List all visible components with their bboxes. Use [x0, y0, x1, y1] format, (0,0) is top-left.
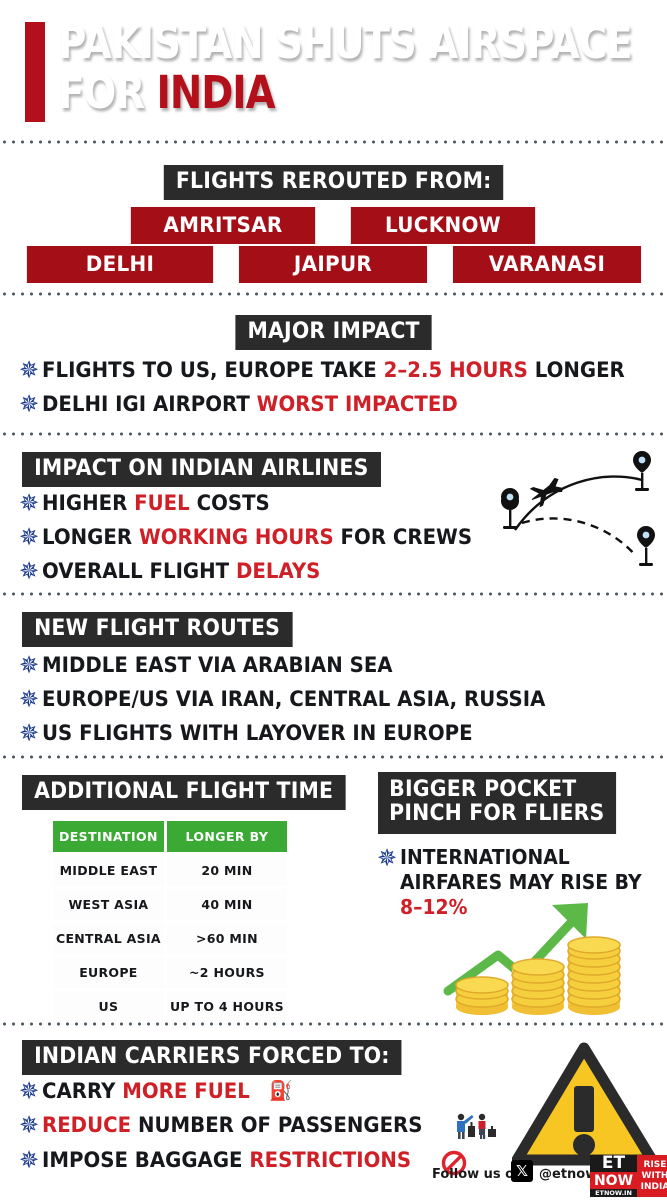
- etnow-logo-url: ETNOW.IN: [590, 1189, 637, 1197]
- table-row: US UP TO 4 HOURS: [53, 991, 287, 1022]
- travellers-icon: [452, 1112, 498, 1140]
- bullet-text: EUROPE/US VIA IRAN, CENTRAL ASIA, RUSSIA: [42, 686, 545, 713]
- cell-destination: US: [53, 991, 164, 1022]
- asterisk-icon: ✵: [374, 845, 400, 871]
- section-major-impact: MAJOR IMPACT: [0, 315, 667, 350]
- list-item: ✵ EUROPE/US VIA IRAN, CENTRAL ASIA, RUSS…: [16, 686, 656, 713]
- column-header-longer-by: LONGER BY: [167, 821, 287, 852]
- asterisk-icon: ✵: [16, 686, 42, 712]
- asterisk-icon: ✵: [16, 1078, 42, 1104]
- title-accent-bar: [25, 22, 45, 122]
- city-chip-lucknow[interactable]: LUCKNOW: [351, 207, 535, 244]
- etnow-logo-tagline: RISE WITH INDIA: [637, 1155, 667, 1197]
- asterisk-icon: ✵: [16, 1147, 42, 1173]
- column-header-destination: DESTINATION: [53, 821, 164, 852]
- flight-time-table-wrap: DESTINATION LONGER BY MIDDLE EAST 20 MIN…: [50, 818, 290, 1025]
- asterisk-icon: ✵: [16, 357, 42, 383]
- asterisk-icon: ✵: [16, 652, 42, 678]
- section-divider: [0, 755, 667, 759]
- coin-stack-large-icon: [568, 937, 620, 1015]
- etnow-logo[interactable]: ET NOW ETNOW.IN RISE WITH INDIA: [590, 1155, 667, 1197]
- bullet-text: DELHI IGI AIRPORT WORST IMPACTED: [42, 391, 458, 418]
- asterisk-icon: ✵: [16, 524, 42, 550]
- list-item: ✵ MIDDLE EAST VIA ARABIAN SEA: [16, 652, 656, 679]
- list-item: ✵ CARRY MORE FUEL ⛽: [16, 1078, 536, 1105]
- section-divider: [0, 432, 667, 436]
- airlines-bullets: ✵ HIGHER FUEL COSTS ✵ LONGER WORKING HOU…: [16, 490, 656, 592]
- table-row: MIDDLE EAST 20 MIN: [53, 855, 287, 886]
- carriers-header-wrap: INDIAN CARRIERS FORCED TO:: [22, 1040, 430, 1075]
- bullet-text: IMPOSE BAGGAGE RESTRICTIONS: [42, 1147, 411, 1174]
- bullet-text: CARRY MORE FUEL: [42, 1078, 250, 1105]
- title-highlight: INDIA: [156, 66, 274, 119]
- routes-header: NEW FLIGHT ROUTES: [22, 612, 292, 647]
- bullet-text: HIGHER FUEL COSTS: [42, 490, 270, 517]
- section-divider: [0, 592, 667, 596]
- asterisk-icon: ✵: [16, 391, 42, 417]
- cell-destination: EUROPE: [53, 957, 164, 988]
- routes-header-wrap: NEW FLIGHT ROUTES: [22, 612, 313, 647]
- coin-stack-small-icon: [456, 977, 508, 1015]
- etnow-logo-now: NOW: [590, 1172, 637, 1189]
- asterisk-icon: ✵: [16, 558, 42, 584]
- bullet-text: US FLIGHTS WITH LAYOVER IN EUROPE: [42, 720, 473, 747]
- cell-destination: MIDDLE EAST: [53, 855, 164, 886]
- carriers-header: INDIAN CARRIERS FORCED TO:: [22, 1040, 402, 1075]
- list-item: ✵ REDUCE NUMBER OF PASSENGERS: [16, 1112, 536, 1140]
- city-chip-jaipur[interactable]: JAIPUR: [239, 246, 427, 283]
- list-item: ✵ US FLIGHTS WITH LAYOVER IN EUROPE: [16, 720, 656, 747]
- etnow-logo-et: ET: [590, 1155, 637, 1172]
- list-item: ✵ OVERALL FLIGHT DELAYS: [16, 558, 656, 585]
- major-impact-bullets: ✵ FLIGHTS TO US, EUROPE TAKE 2–2.5 HOURS…: [16, 357, 656, 425]
- title-block: PAKISTAN SHUTS AIRSPACE FOR INDIA: [25, 18, 645, 118]
- flight-time-header: ADDITIONAL FLIGHT TIME: [22, 775, 345, 810]
- infographic-page: PAKISTAN SHUTS AIRSPACE FOR INDIA FLIGHT…: [0, 0, 667, 1200]
- table-row: CENTRAL ASIA >60 MIN: [53, 923, 287, 954]
- section-divider: [0, 1022, 667, 1026]
- list-item: ✵ FLIGHTS TO US, EUROPE TAKE 2–2.5 HOURS…: [16, 357, 656, 384]
- airlines-header-wrap: IMPACT ON INDIAN AIRLINES: [22, 452, 408, 487]
- bullet-text: OVERALL FLIGHT DELAYS: [42, 558, 320, 585]
- title-line-2: FOR INDIA: [58, 68, 563, 118]
- flight-time-header-wrap: ADDITIONAL FLIGHT TIME: [22, 775, 370, 810]
- asterisk-icon: ✵: [16, 1112, 42, 1138]
- table-row: WEST ASIA 40 MIN: [53, 889, 287, 920]
- cell-destination: WEST ASIA: [53, 889, 164, 920]
- asterisk-icon: ✵: [16, 720, 42, 746]
- list-item: ✵ LONGER WORKING HOURS FOR CREWS: [16, 524, 656, 551]
- flight-time-table: DESTINATION LONGER BY MIDDLE EAST 20 MIN…: [50, 818, 290, 1025]
- city-chip-varanasi[interactable]: VARANASI: [453, 246, 641, 283]
- fuel-pump-icon: ⛽: [269, 1078, 293, 1105]
- routes-bullets: ✵ MIDDLE EAST VIA ARABIAN SEA ✵ EUROPE/U…: [16, 652, 656, 754]
- list-item: ✵ HIGHER FUEL COSTS: [16, 490, 656, 517]
- asterisk-icon: ✵: [16, 490, 42, 516]
- pocket-pinch-header-wrap: BIGGER POCKET PINCH FOR FLIERS: [378, 772, 634, 834]
- cell-longer-by: UP TO 4 HOURS: [167, 991, 287, 1022]
- cell-longer-by: >60 MIN: [167, 923, 287, 954]
- bullet-text: LONGER WORKING HOURS FOR CREWS: [42, 524, 472, 551]
- tagline-line-2: WITH: [642, 1171, 667, 1182]
- bullet-text: FLIGHTS TO US, EUROPE TAKE 2–2.5 HOURS L…: [42, 357, 625, 384]
- cell-longer-by: 20 MIN: [167, 855, 287, 886]
- cell-longer-by: ~2 HOURS: [167, 957, 287, 988]
- pocket-pinch-header: BIGGER POCKET PINCH FOR FLIERS: [378, 772, 616, 834]
- rerouted-header: FLIGHTS REROUTED FROM:: [164, 165, 504, 200]
- x-twitter-icon[interactable]: 𝕏: [511, 1160, 533, 1182]
- bullet-text: REDUCE NUMBER OF PASSENGERS: [42, 1112, 422, 1139]
- tagline-line-1: RISE: [644, 1160, 667, 1171]
- airlines-header: IMPACT ON INDIAN AIRLINES: [22, 452, 381, 487]
- follow-label: Follow us on: [432, 1167, 523, 1182]
- title-line-1: PAKISTAN SHUTS AIRSPACE: [58, 18, 563, 68]
- pocket-pinch-header-line-2: PINCH FOR FLIERS: [389, 802, 604, 826]
- tagline-line-3: INDIA: [641, 1182, 667, 1193]
- city-chip-delhi[interactable]: DELHI: [27, 246, 213, 283]
- major-impact-header: MAJOR IMPACT: [235, 315, 431, 350]
- pocket-pinch-header-line-1: BIGGER POCKET: [389, 778, 604, 802]
- section-divider: [0, 292, 667, 296]
- map-pin-icon: [633, 451, 651, 491]
- cell-destination: CENTRAL ASIA: [53, 923, 164, 954]
- cell-longer-by: 40 MIN: [167, 889, 287, 920]
- coin-stack-medium-icon: [512, 959, 564, 1015]
- section-rerouted: FLIGHTS REROUTED FROM:: [0, 165, 667, 200]
- bullet-text: MIDDLE EAST VIA ARABIAN SEA: [42, 652, 393, 679]
- section-divider: [0, 140, 667, 144]
- page-title: PAKISTAN SHUTS AIRSPACE FOR INDIA: [58, 18, 563, 118]
- list-item: ✵ DELHI IGI AIRPORT WORST IMPACTED: [16, 391, 656, 418]
- table-row: EUROPE ~2 HOURS: [53, 957, 287, 988]
- table-header-row: DESTINATION LONGER BY: [53, 821, 287, 852]
- coin-growth-illustration: [440, 895, 650, 1015]
- etnow-logo-main: ET NOW ETNOW.IN: [590, 1155, 637, 1197]
- city-chip-amritsar[interactable]: AMRITSAR: [131, 207, 315, 244]
